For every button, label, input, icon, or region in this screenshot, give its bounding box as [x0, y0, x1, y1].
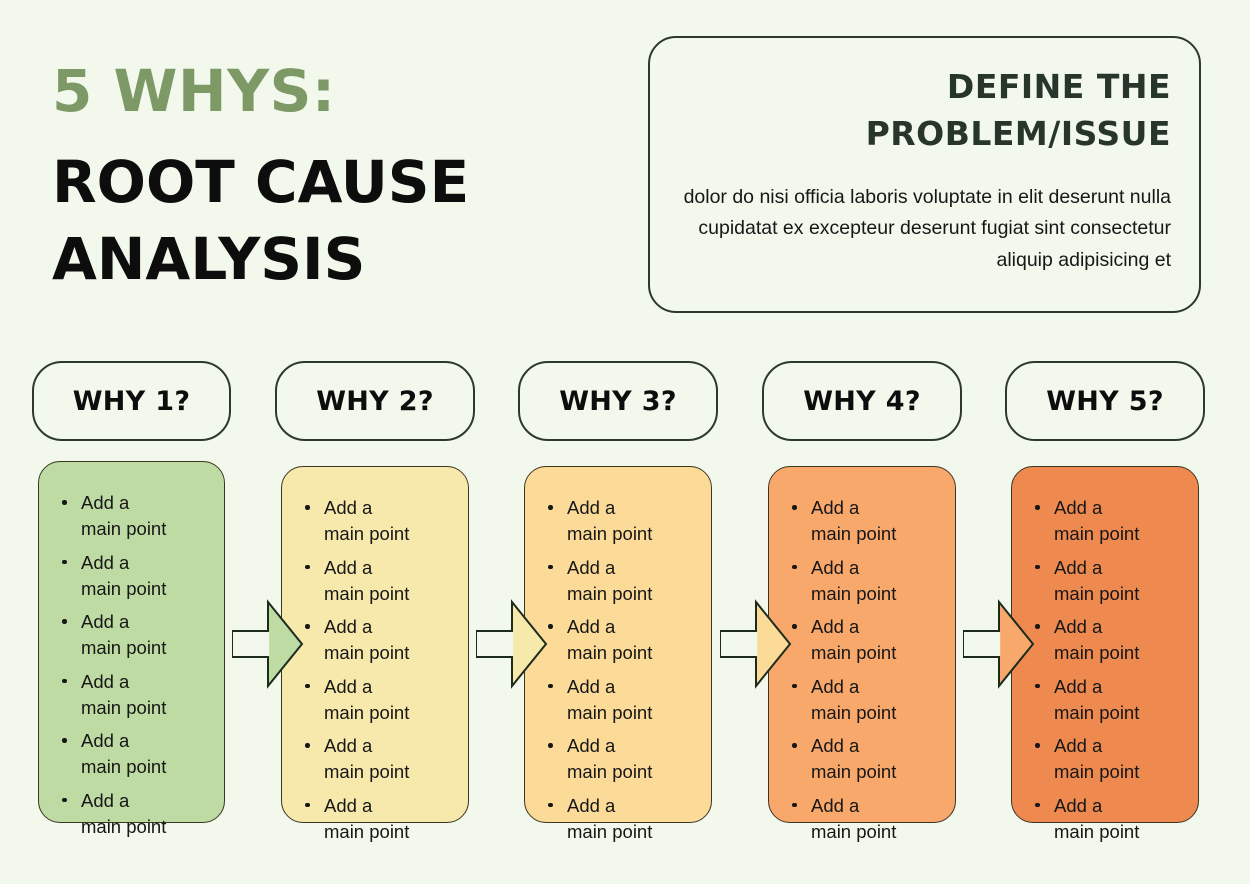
arrow-right-icon	[963, 598, 1037, 690]
why-bullet-list: Add a main pointAdd a main pointAdd a ma…	[1028, 495, 1186, 845]
why-columns-band: WHY 1?Add a main pointAdd a main pointAd…	[0, 0, 1250, 884]
why-pill-label: WHY 3?	[559, 386, 677, 417]
why-pill-label: WHY 5?	[1046, 386, 1164, 417]
why-bullet-list: Add a main pointAdd a main pointAdd a ma…	[298, 495, 456, 845]
why-body-3[interactable]: Add a main pointAdd a main pointAdd a ma…	[524, 466, 712, 823]
list-item[interactable]: Add a main point	[55, 550, 173, 603]
list-item[interactable]: Add a main point	[1028, 793, 1146, 846]
arrow-why2-to-why3	[476, 598, 550, 690]
list-item[interactable]: Add a main point	[1028, 733, 1146, 786]
list-item[interactable]: Add a main point	[541, 614, 659, 667]
why-pill-label: WHY 1?	[73, 386, 191, 417]
list-item[interactable]: Add a main point	[298, 733, 416, 786]
list-item[interactable]: Add a main point	[1028, 674, 1146, 727]
list-item[interactable]: Add a main point	[785, 793, 903, 846]
why-pill-label: WHY 2?	[316, 386, 434, 417]
list-item[interactable]: Add a main point	[298, 614, 416, 667]
why-pill-3[interactable]: WHY 3?	[518, 361, 718, 441]
list-item[interactable]: Add a main point	[55, 669, 173, 722]
list-item[interactable]: Add a main point	[298, 555, 416, 608]
arrow-right-icon	[720, 598, 794, 690]
why-pill-5[interactable]: WHY 5?	[1005, 361, 1205, 441]
arrow-why1-to-why2	[232, 598, 306, 690]
list-item[interactable]: Add a main point	[785, 733, 903, 786]
why-pill-1[interactable]: WHY 1?	[32, 361, 231, 441]
list-item[interactable]: Add a main point	[785, 555, 903, 608]
why-bullet-list: Add a main pointAdd a main pointAdd a ma…	[785, 495, 943, 845]
arrow-why3-to-why4	[720, 598, 794, 690]
list-item[interactable]: Add a main point	[55, 609, 173, 662]
list-item[interactable]: Add a main point	[298, 495, 416, 548]
list-item[interactable]: Add a main point	[298, 674, 416, 727]
list-item[interactable]: Add a main point	[1028, 614, 1146, 667]
arrow-right-icon	[232, 598, 306, 690]
list-item[interactable]: Add a main point	[785, 495, 903, 548]
why-pill-label: WHY 4?	[803, 386, 921, 417]
list-item[interactable]: Add a main point	[785, 614, 903, 667]
list-item[interactable]: Add a main point	[541, 674, 659, 727]
list-item[interactable]: Add a main point	[55, 788, 173, 841]
arrow-right-icon	[476, 598, 550, 690]
list-item[interactable]: Add a main point	[541, 495, 659, 548]
why-body-4[interactable]: Add a main pointAdd a main pointAdd a ma…	[768, 466, 956, 823]
arrow-why4-to-why5	[963, 598, 1037, 690]
list-item[interactable]: Add a main point	[1028, 555, 1146, 608]
list-item[interactable]: Add a main point	[55, 490, 173, 543]
why-bullet-list: Add a main pointAdd a main pointAdd a ma…	[541, 495, 699, 845]
why-bullet-list: Add a main pointAdd a main pointAdd a ma…	[55, 490, 212, 840]
list-item[interactable]: Add a main point	[298, 793, 416, 846]
why-pill-4[interactable]: WHY 4?	[762, 361, 962, 441]
list-item[interactable]: Add a main point	[1028, 495, 1146, 548]
why-body-5[interactable]: Add a main pointAdd a main pointAdd a ma…	[1011, 466, 1199, 823]
list-item[interactable]: Add a main point	[785, 674, 903, 727]
list-item[interactable]: Add a main point	[541, 733, 659, 786]
list-item[interactable]: Add a main point	[541, 555, 659, 608]
list-item[interactable]: Add a main point	[541, 793, 659, 846]
why-pill-2[interactable]: WHY 2?	[275, 361, 475, 441]
why-body-1[interactable]: Add a main pointAdd a main pointAdd a ma…	[38, 461, 225, 823]
list-item[interactable]: Add a main point	[55, 728, 173, 781]
why-body-2[interactable]: Add a main pointAdd a main pointAdd a ma…	[281, 466, 469, 823]
